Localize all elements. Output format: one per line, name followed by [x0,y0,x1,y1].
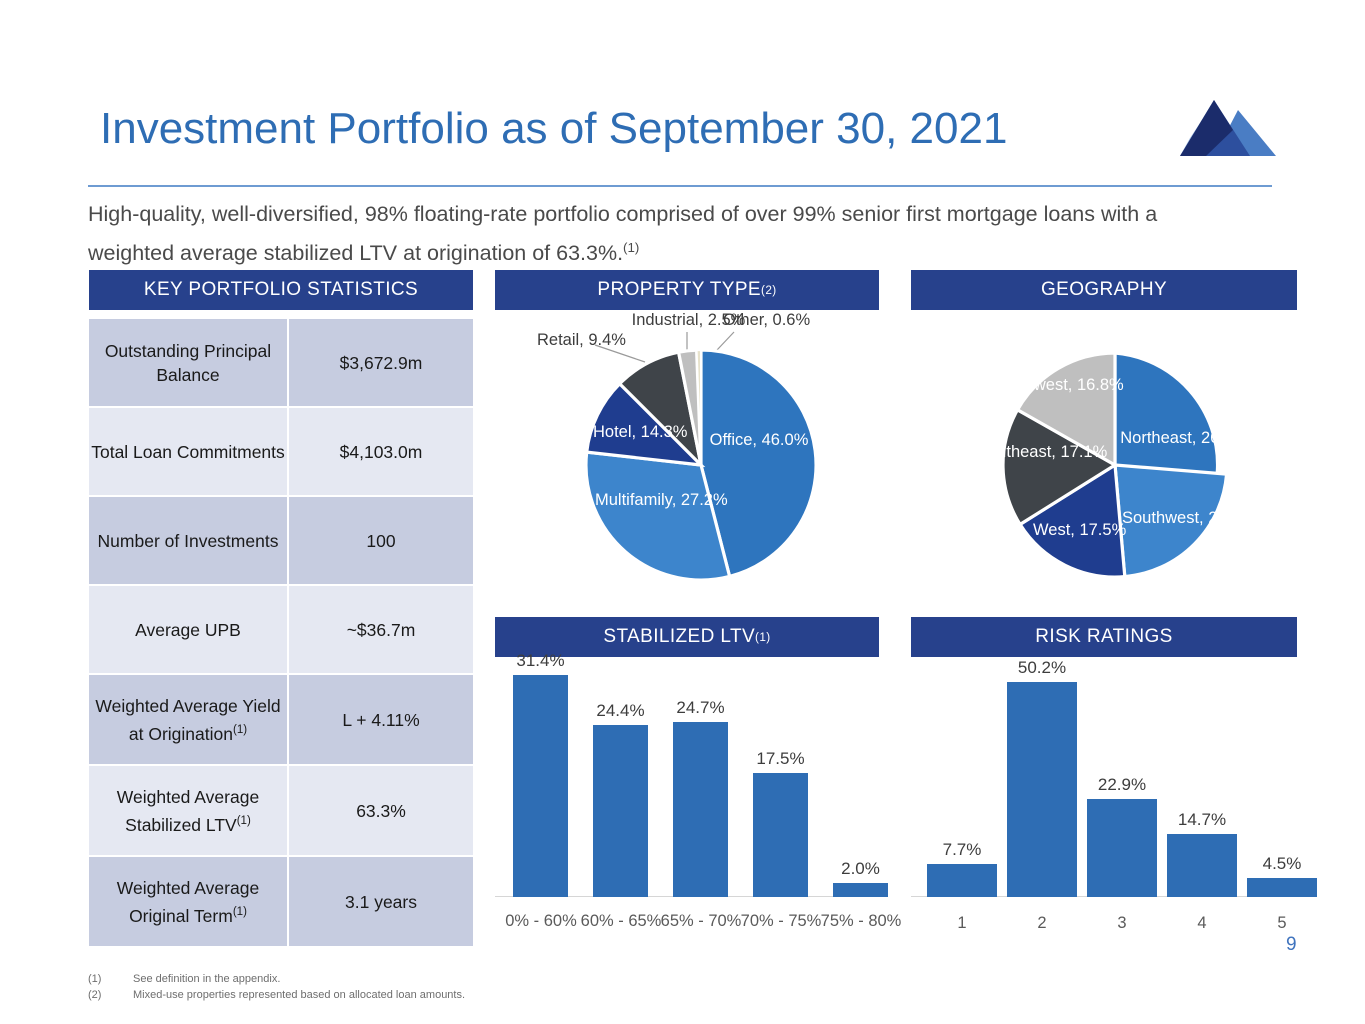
bar-value-0-60: 31.4% [503,651,578,671]
table-row: Weighted Average Original Term(1) 3.1 ye… [89,857,473,946]
stat-label: Weighted Average Stabilized LTV(1) [89,766,289,855]
stat-value: 100 [289,497,473,584]
bar-category-rating-5: 5 [1237,914,1327,933]
stat-label: Outstanding Principal Balance [89,319,289,406]
subtitle-line-1: High-quality, well-diversified, 98% floa… [88,202,1038,226]
property-type-slices [586,350,816,580]
footnote-item: (1) See definition in the appendix. [88,971,465,987]
bar-value-65-70: 24.7% [663,698,738,718]
table-row: Outstanding Principal Balance $3,672.9m [89,319,473,406]
panel-title-stabilized-ltv: STABILIZED LTV [603,626,755,648]
bar-category-70-75: 70% - 75% [735,912,827,931]
stabilized-ltv-bar-chart: 31.4% 24.4% 24.7% 17.5% 2.0% 0% - 60% 60… [495,670,879,955]
stat-label-text: Weighted Average Stabilized LTV [117,787,259,835]
table-row: Number of Investments 100 [89,497,473,584]
bar-0-60 [513,675,568,897]
bar-70-75 [753,773,808,897]
key-portfolio-statistics-table: Outstanding Principal Balance $3,672.9m … [89,317,473,948]
footnote-number: (2) [88,987,133,1003]
stat-value: $3,672.9m [289,319,473,406]
stabilized-ltv-footnote-ref: (1) [755,631,771,644]
footnote-item: (2) Mixed-use properties represented bas… [88,987,465,1003]
stat-value: L + 4.11% [289,675,473,764]
stat-label: Weighted Average Yield at Origination(1) [89,675,289,764]
stat-value: 63.3% [289,766,473,855]
stat-label-footnote-ref: (1) [233,724,247,736]
pie-slice-label-hotel: Hotel, 14.3% [593,422,673,442]
footnote-number: (1) [88,971,133,987]
panel-header-geography: GEOGRAPHY [911,270,1297,310]
panel-title-risk-ratings: RISK RATINGS [1035,626,1172,648]
title-divider [88,185,1272,187]
bar-value-70-75: 17.5% [743,749,818,769]
bar-category-rating-2: 2 [997,914,1087,933]
pie-slice-label-northeast: Northeast, 26.3% [1119,428,1249,448]
bar-rating-5 [1247,878,1317,897]
property-type-pie-chart: Office, 46.0% Multifamily, 27.2% Hotel, … [495,310,879,600]
bar-category-rating-1: 1 [917,914,1007,933]
stat-label: Weighted Average Original Term(1) [89,857,289,946]
stat-label-text: Total Loan Commitments [91,442,285,462]
stat-label: Total Loan Commitments [89,408,289,495]
geography-pie-chart: Northeast, 26.3% Southwest, 22.3% West, … [911,340,1297,600]
pie-slice-label-office: Office, 46.0% [709,430,809,450]
footnote-text: See definition in the appendix. [133,971,280,987]
pie-slice-label-retail: Retail, 9.4% [537,330,609,350]
bar-rating-3 [1087,799,1157,897]
pie-slice-label-multifamily: Multifamily, 27.2% [595,490,715,510]
bar-value-rating-4: 14.7% [1157,810,1247,830]
bar-value-60-65: 24.4% [583,701,658,721]
bar-category-65-70: 65% - 70% [655,912,747,931]
footnotes: (1) See definition in the appendix. (2) … [88,971,465,1003]
stat-label-text: Outstanding Principal Balance [105,341,271,385]
bar-75-80 [833,883,888,897]
pie-slice-label-west: West, 17.5% [1033,520,1123,540]
footnote-text: Mixed-use properties represented based o… [133,987,465,1003]
bar-category-60-65: 60% - 65% [575,912,667,931]
property-type-footnote-ref: (2) [761,284,777,297]
bar-rating-2 [1007,682,1077,897]
bar-category-rating-3: 3 [1077,914,1167,933]
property-type-pie-svg [495,310,879,600]
bar-value-rating-2: 50.2% [997,658,1087,678]
panel-title-stats: KEY PORTFOLIO STATISTICS [144,279,418,301]
pie-slice-label-southwest: Southwest, 22.3% [1121,508,1256,528]
slide-root: Investment Portfolio as of September 30,… [0,0,1365,1024]
bar-rating-1 [927,864,997,897]
stat-label-footnote-ref: (1) [237,815,251,827]
bar-value-rating-1: 7.7% [917,840,1007,860]
subtitle-footnote-ref: (1) [623,240,639,255]
stat-value: $4,103.0m [289,408,473,495]
table-row: Total Loan Commitments $4,103.0m [89,408,473,495]
bar-category-0-60: 0% - 60% [495,912,587,931]
bar-category-rating-4: 4 [1157,914,1247,933]
pie-slice-label-midwest: Midwest, 16.8% [1003,375,1128,395]
mountain-logo [1178,98,1276,158]
bar-60-65 [593,725,648,897]
panel-title-property-type: PROPERTY TYPE [597,279,761,301]
stat-label-text: Weighted Average Original Term [117,878,259,926]
stat-label: Average UPB [89,586,289,673]
page-number: 9 [1286,934,1297,956]
panel-title-geography: GEOGRAPHY [1041,279,1167,301]
table-row: Weighted Average Stabilized LTV(1) 63.3% [89,766,473,855]
panel-header-property-type: PROPERTY TYPE(2) [495,270,879,310]
panel-header-key-portfolio-statistics: KEY PORTFOLIO STATISTICS [89,270,473,310]
stat-value: 3.1 years [289,857,473,946]
bar-value-rating-5: 4.5% [1237,854,1327,874]
bar-category-75-80: 75% - 80% [815,912,907,931]
risk-ratings-bar-chart: 7.7% 50.2% 22.9% 14.7% 4.5% 1 2 3 4 5 [911,670,1297,955]
stat-label: Number of Investments [89,497,289,584]
bar-value-75-80: 2.0% [823,859,898,879]
subtitle: High-quality, well-diversified, 98% floa… [88,198,1238,270]
stat-label-footnote-ref: (1) [233,906,247,918]
pie-slice-label-other: Other, 0.6% [723,310,803,330]
bar-value-rating-3: 22.9% [1077,775,1167,795]
table-row: Weighted Average Yield at Origination(1)… [89,675,473,764]
table-row: Average UPB ~$36.7m [89,586,473,673]
pie-slice-label-southeast: Southeast, 17.1% [977,442,1107,462]
stat-label-text: Average UPB [135,620,241,640]
page-title: Investment Portfolio as of September 30,… [100,104,1007,154]
stat-label-text: Number of Investments [98,531,279,551]
stat-value: ~$36.7m [289,586,473,673]
bar-65-70 [673,722,728,897]
bar-rating-4 [1167,834,1237,897]
stat-label-text: Weighted Average Yield at Origination [95,696,280,744]
panel-header-risk-ratings: RISK RATINGS [911,617,1297,657]
